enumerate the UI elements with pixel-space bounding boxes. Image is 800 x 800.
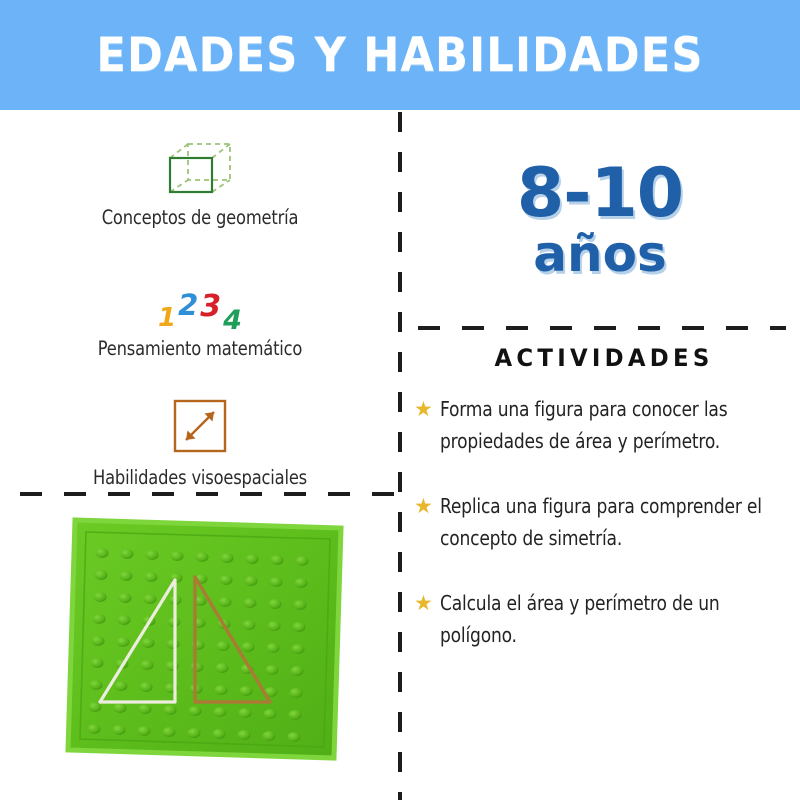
digit-2: 2: [178, 291, 198, 320]
list-item: ★ Calcula el área y perímetro de un polí…: [414, 588, 794, 651]
skill-label-visuospatial: Habilidades visoespaciales: [27, 466, 373, 489]
skill-label-math: Pensamiento matemático: [27, 337, 373, 360]
star-icon: ★: [414, 588, 440, 617]
geoboard-photo: [62, 512, 346, 764]
age-range: 8-10: [517, 161, 683, 228]
digit-4: 4: [223, 307, 242, 334]
star-icon: ★: [414, 394, 440, 423]
activities-title: ACTIVIDADES: [424, 344, 785, 372]
digit-3: 3: [200, 292, 221, 322]
age-unit: años: [533, 229, 666, 279]
activity-text: Replica una figura para comprender el co…: [440, 491, 763, 554]
infographic-poster: EDADES Y HABILIDADES Conceptos de geo: [0, 0, 800, 800]
age-block: 8-10 años: [400, 120, 800, 320]
activity-text: Forma una figura para conocer las propie…: [440, 394, 763, 457]
digit-1: 1: [158, 305, 176, 331]
divider-horizontal-right: [418, 326, 786, 330]
skill-item-math: 1 2 3 4 Pensamiento matemático: [14, 265, 386, 360]
skill-item-geometry: Conceptos de geometría: [14, 134, 386, 229]
star-icon: ★: [414, 491, 440, 520]
page-title: EDADES Y HABILIDADES: [32, 0, 768, 110]
skill-item-visuospatial: Habilidades visoespaciales: [14, 394, 386, 489]
activity-list: ★ Forma una figura para conocer las prop…: [414, 394, 794, 652]
diagonal-arrow-square-icon: [14, 394, 386, 460]
cube-3d-icon: [14, 134, 386, 200]
list-item: ★ Forma una figura para conocer las prop…: [414, 394, 794, 457]
activities-section: ACTIVIDADES ★ Forma una figura para cono…: [414, 344, 794, 686]
list-item: ★ Replica una figura para comprender el …: [414, 491, 794, 554]
divider-horizontal-left: [20, 492, 398, 496]
skills-column: Conceptos de geometría 1 2 3 4 Pensamien…: [14, 124, 386, 484]
skill-label-geometry: Conceptos de geometría: [27, 206, 373, 229]
activity-text: Calcula el área y perímetro de un polígo…: [440, 588, 763, 651]
numbers-1234-icon: 1 2 3 4: [14, 265, 386, 331]
